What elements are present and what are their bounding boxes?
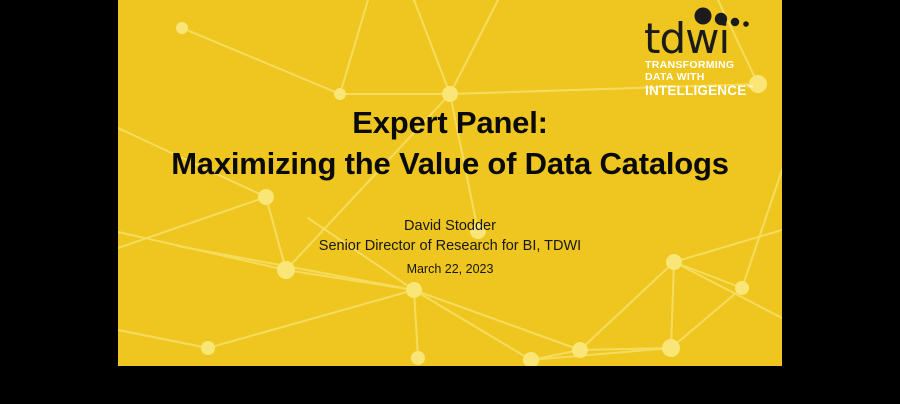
- slide-byline-block: David Stodder Senior Director of Researc…: [118, 216, 782, 281]
- logo-tagline-line2: DATA WITH: [645, 72, 767, 84]
- slide-title-line-1: Expert Panel:: [118, 103, 782, 143]
- logo-tagline-line3: INTELLIGENCE: [645, 84, 746, 98]
- presentation-date: March 22, 2023: [118, 257, 782, 281]
- slide-title-block: Expert Panel: Maximizing the Value of Da…: [118, 103, 782, 185]
- trademark-symbol: ™: [746, 85, 753, 92]
- presenter-name: David Stodder: [118, 216, 782, 236]
- logo-tagline-line1: TRANSFORMING: [645, 60, 767, 72]
- tdwi-logo: tdwi TRANSFORMING DATA WITH INTELLIGENCE…: [644, 4, 764, 96]
- logo-tagline: TRANSFORMING DATA WITH INTELLIGENCE™: [645, 60, 767, 98]
- presenter-title: Senior Director of Research for BI, TDWI: [118, 236, 782, 257]
- presentation-slide: tdwi TRANSFORMING DATA WITH INTELLIGENCE…: [118, 0, 782, 366]
- logo-tagline-line3-wrap: INTELLIGENCE™: [645, 83, 767, 98]
- slide-title-line-2: Maximizing the Value of Data Catalogs: [118, 143, 782, 185]
- screenshot-canvas: tdwi TRANSFORMING DATA WITH INTELLIGENCE…: [0, 0, 900, 404]
- logo-wordmark: tdwi: [644, 16, 764, 62]
